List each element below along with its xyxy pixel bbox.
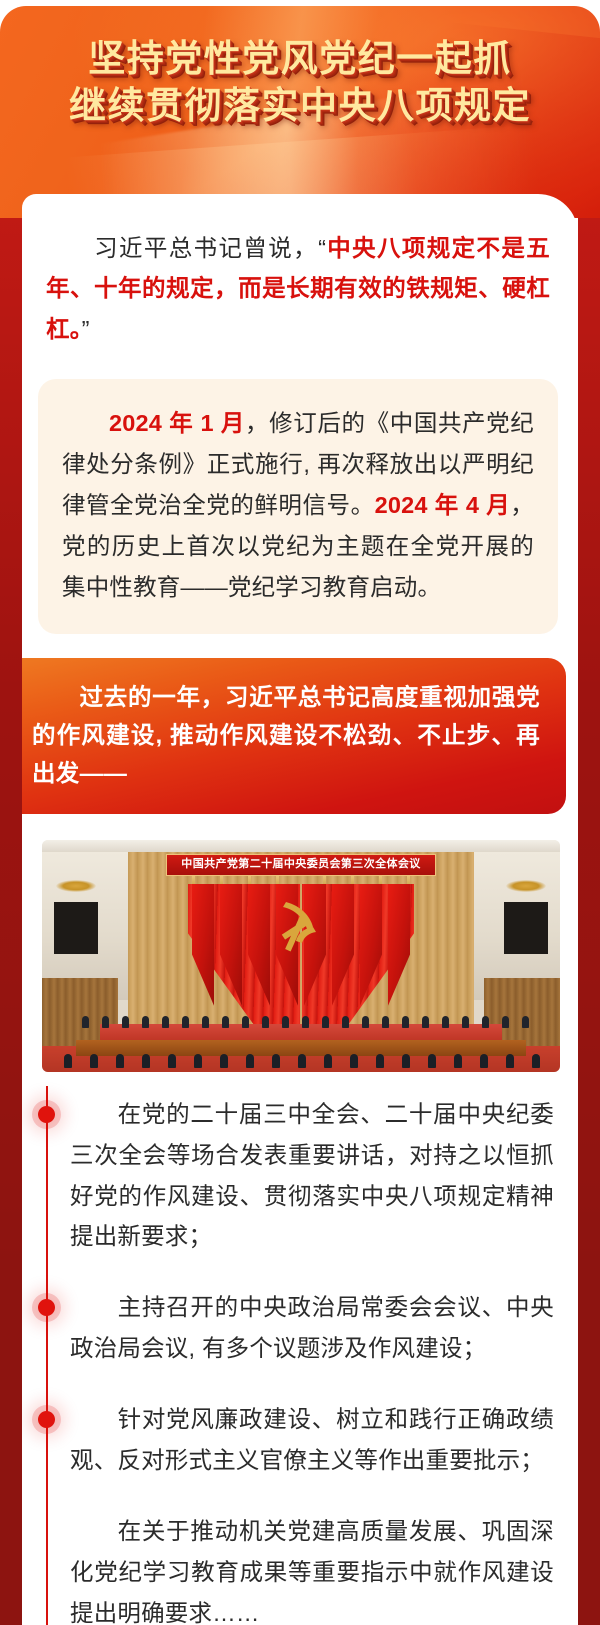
list-item-text-wrap: 主持召开的中央政治局常委会会议、中央政治局会议, 有多个议题涉及作风建设； xyxy=(70,1287,554,1369)
quote-paragraph: 习近平总书记曾说，“中央八项规定不是五年、十年的规定，而是长期有效的铁规矩、硬杠… xyxy=(22,194,578,353)
timeline-dot-icon xyxy=(38,1106,55,1123)
photo-scene: 中国共产党第二十届中央委员会第三次全体会议 xyxy=(42,840,560,1072)
title-line-1: 坚持党性党风党纪一起抓 xyxy=(0,36,600,83)
red-callout-box: 过去的一年，习近平总书记高度重视加强党的作风建设, 推动作风建设不松劲、不止步、… xyxy=(22,658,566,814)
cream-paragraph-box: 2024 年 1 月，修订后的《中国共产党纪律处分条例》正式施行, 再次释放出以… xyxy=(38,379,558,633)
wall-panel-right xyxy=(504,902,548,954)
list-item: 在关于推动机关党建高质量发展、巩固深化党纪学习教育成果等重要指示中就作风建设提出… xyxy=(70,1511,554,1625)
wall-panel-left xyxy=(54,902,98,954)
list-item-text-wrap: 在关于推动机关党建高质量发展、巩固深化党纪学习教育成果等重要指示中就作风建设提出… xyxy=(70,1511,554,1625)
timeline-dot-icon xyxy=(38,1299,55,1316)
wall-ornament-right xyxy=(506,880,546,892)
list-item: 主持召开的中央政治局常委会会议、中央政治局会议, 有多个议题涉及作风建设； xyxy=(70,1287,554,1369)
quote-open-mark: “ xyxy=(318,235,326,261)
content-card: 习近平总书记曾说，“中央八项规定不是五年、十年的规定，而是长期有效的铁规矩、硬杠… xyxy=(22,194,578,1625)
list-item-text: 在关于推动机关党建高质量发展、巩固深化党纪学习教育成果等重要指示中就作风建设提出… xyxy=(70,1518,554,1625)
infographic-poster: 坚持党性党风党纪一起抓 继续贯彻落实中央八项规定 习近平总书记曾说，“中央八项规… xyxy=(0,0,600,1625)
session-banner: 中国共产党第二十届中央委员会第三次全体会议 xyxy=(166,854,436,876)
list-item-text-wrap: 针对党风廉政建设、树立和践行正确政绩观、反对形式主义官僚主义等作出重要批示； xyxy=(70,1399,554,1481)
timeline-dot-icon xyxy=(38,1411,55,1428)
list-item-text-wrap: 在党的二十届三中全会、二十届中央纪委三次全会等场合发表重要讲话，对持之以恒抓好党… xyxy=(70,1094,554,1258)
party-emblem-icon xyxy=(275,896,327,958)
list-item-text: 主持召开的中央政治局常委会会议、中央政治局会议, 有多个议题涉及作风建设； xyxy=(70,1294,554,1361)
cream-date-2: 2024 年 4 月 xyxy=(375,492,511,518)
quote-lead: 习近平总书记曾说， xyxy=(93,235,318,261)
poster-title: 坚持党性党风党纪一起抓 继续贯彻落实中央八项规定 xyxy=(0,36,600,131)
title-line-2: 继续贯彻落实中央八项规定 xyxy=(0,83,600,130)
delegates-row-lower xyxy=(42,1008,560,1072)
wall-ornament-left xyxy=(56,880,96,892)
list-item: 针对党风廉政建设、树立和践行正确政绩观、反对形式主义官僚主义等作出重要批示； xyxy=(70,1399,554,1481)
plenary-session-photo: 中国共产党第二十届中央委员会第三次全体会议 xyxy=(42,840,560,1072)
list-item: 在党的二十届三中全会、二十届中央纪委三次全会等场合发表重要讲话，对持之以恒抓好党… xyxy=(70,1094,554,1258)
cream-date-1: 2024 年 1 月 xyxy=(109,410,245,436)
red-callout-text: 过去的一年，习近平总书记高度重视加强党的作风建设, 推动作风建设不松劲、不止步、… xyxy=(32,684,540,786)
left-red-rail xyxy=(0,186,22,1625)
right-red-rail xyxy=(578,186,600,1625)
session-banner-text: 中国共产党第二十届中央委员会第三次全体会议 xyxy=(181,859,420,870)
list-item-text: 针对党风廉政建设、树立和践行正确政绩观、反对形式主义官僚主义等作出重要批示； xyxy=(70,1406,554,1473)
timeline-list: 在党的二十届三中全会、二十届中央纪委三次全会等场合发表重要讲话，对持之以恒抓好党… xyxy=(22,1094,578,1625)
quote-close-mark: ” xyxy=(82,316,90,342)
timeline-vertical-line xyxy=(46,1086,48,1625)
list-item-text: 在党的二十届三中全会、二十届中央纪委三次全会等场合发表重要讲话，对持之以恒抓好党… xyxy=(70,1101,554,1250)
